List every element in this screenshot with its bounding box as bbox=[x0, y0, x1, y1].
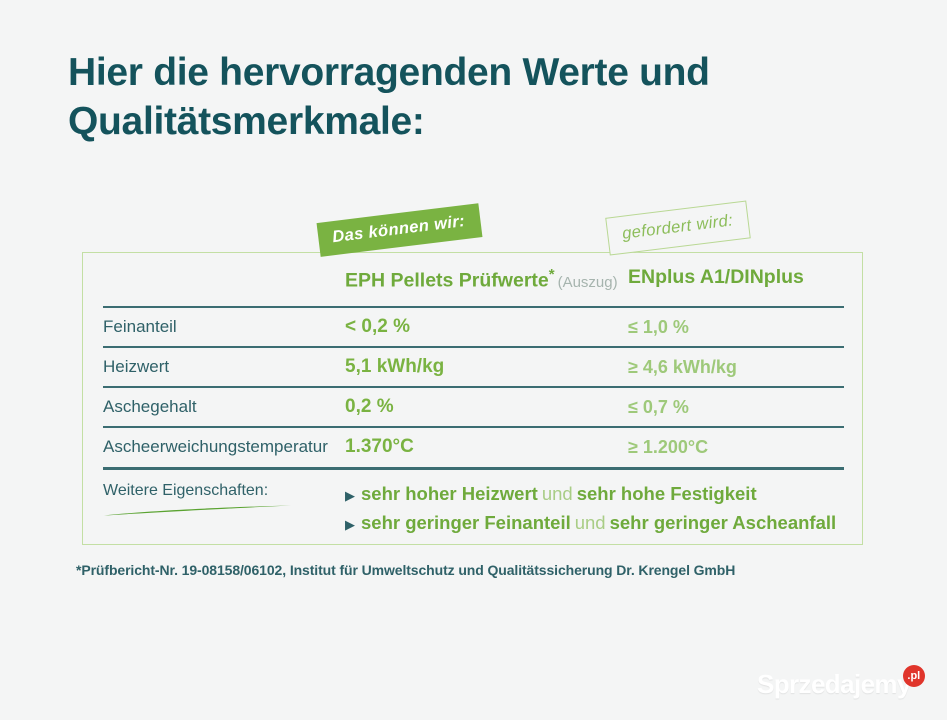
row-value-ours: 0,2 % bbox=[345, 396, 628, 418]
sticker-required: gefordert wird: bbox=[605, 200, 751, 255]
extras-conjunction: und bbox=[575, 512, 606, 534]
watermark-name: Sprzedajemy bbox=[757, 669, 911, 700]
watermark: Sprzedajemy .pl bbox=[757, 669, 925, 700]
row-value-ours: 1.370°C bbox=[345, 436, 628, 458]
specs-panel: EPH Pellets Prüfwerte*(Auszug) ENplus A1… bbox=[82, 252, 863, 545]
row-value-ours: 5,1 kWh/kg bbox=[345, 356, 628, 378]
row-label: Heizwert bbox=[103, 357, 345, 377]
hand-drawn-underline-icon bbox=[101, 504, 301, 518]
row-label: Ascheerweichungstemperatur bbox=[103, 437, 345, 457]
column-header-ours-text: EPH Pellets Prüfwerte bbox=[345, 270, 549, 292]
row-value-required: ≥ 4,6 kWh/kg bbox=[628, 357, 737, 378]
row-label: Feinanteil bbox=[103, 317, 345, 337]
footnote: *Prüfbericht-Nr. 19-08158/06102, Institu… bbox=[76, 562, 735, 578]
column-header-ours-note: (Auszug) bbox=[558, 274, 618, 291]
table-row: Aschegehalt 0,2 % ≤ 0,7 % bbox=[103, 388, 844, 426]
row-label: Aschegehalt bbox=[103, 397, 345, 417]
extras-label-wrap: Weitere Eigenschaften: bbox=[103, 482, 345, 541]
row-value-required: ≤ 0,7 % bbox=[628, 397, 689, 418]
table-row: Heizwert 5,1 kWh/kg ≥ 4,6 kWh/kg bbox=[103, 348, 844, 386]
extras-label: Weitere Eigenschaften: bbox=[103, 482, 345, 500]
table-header-row: EPH Pellets Prüfwerte*(Auszug) ENplus A1… bbox=[83, 266, 862, 306]
extras-part-2: sehr geringer Ascheanfall bbox=[610, 512, 837, 534]
triangle-right-icon: ▶ bbox=[345, 518, 355, 531]
page-title-line-1: Hier die hervorragenden Werte und bbox=[68, 48, 868, 97]
list-item: ▶ sehr hoher Heizwert und sehr hohe Fest… bbox=[345, 483, 836, 505]
extras-part-2: sehr hohe Festigkeit bbox=[577, 483, 757, 505]
watermark-badge: .pl bbox=[903, 665, 925, 687]
triangle-right-icon: ▶ bbox=[345, 489, 355, 502]
row-value-required: ≥ 1.200°C bbox=[628, 437, 708, 458]
extras-part-1: sehr hoher Heizwert bbox=[361, 483, 538, 505]
specs-table: Feinanteil < 0,2 % ≤ 1,0 % Heizwert 5,1 … bbox=[103, 306, 844, 541]
row-value-ours: < 0,2 % bbox=[345, 316, 628, 338]
list-item: ▶ sehr geringer Feinanteil und sehr geri… bbox=[345, 512, 836, 534]
table-row: Feinanteil < 0,2 % ≤ 1,0 % bbox=[103, 308, 844, 346]
row-value-required: ≤ 1,0 % bbox=[628, 317, 689, 338]
page-title-line-2: Qualitätsmerkmale: bbox=[68, 97, 868, 146]
extras-list: ▶ sehr hoher Heizwert und sehr hohe Fest… bbox=[345, 482, 836, 541]
column-header-required: ENplus A1/DINplus bbox=[628, 266, 804, 289]
column-header-ours: EPH Pellets Prüfwerte*(Auszug) bbox=[345, 266, 618, 293]
sticker-ours: Das können wir: bbox=[317, 203, 483, 257]
footnote-marker: * bbox=[549, 266, 555, 283]
extras-part-1: sehr geringer Feinanteil bbox=[361, 512, 571, 534]
extras-section: Weitere Eigenschaften: ▶ sehr hoher Heiz… bbox=[103, 470, 844, 541]
table-row: Ascheerweichungstemperatur 1.370°C ≥ 1.2… bbox=[103, 428, 844, 466]
extras-conjunction: und bbox=[542, 483, 573, 505]
page-title: Hier die hervorragenden Werte und Qualit… bbox=[68, 48, 868, 146]
